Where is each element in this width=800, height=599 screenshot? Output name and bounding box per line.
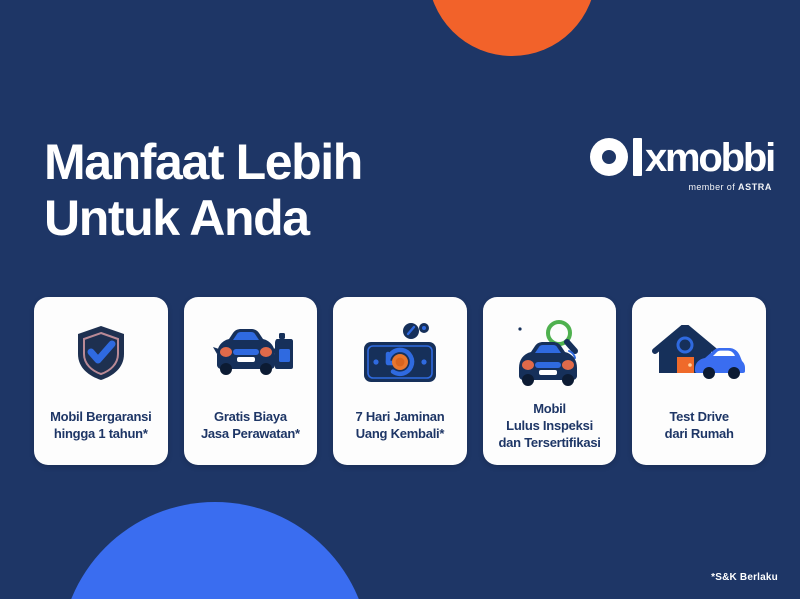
- logo-wordmark-row: xmobbi: [590, 136, 774, 178]
- card-line-2: Uang Kembali*: [356, 425, 445, 442]
- shield-check-icon: [42, 315, 160, 391]
- card-line-1: Mobil Bergaransi: [50, 408, 151, 425]
- benefit-card-list: Mobil Bergaransi hingga 1 tahun*: [34, 297, 766, 465]
- car-oil-bottle-icon: [192, 315, 310, 391]
- card-line-2: Lulus Inspeksi: [506, 417, 593, 434]
- card-line-2: hingga 1 tahun*: [54, 425, 148, 442]
- card-line-1: Gratis Biaya: [214, 408, 287, 425]
- benefit-card-label: Mobil Bergaransi hingga 1 tahun*: [50, 397, 151, 453]
- logo-wordmark: xmobbi: [645, 139, 774, 177]
- blue-circle-decoration: [60, 502, 370, 599]
- card-line-1: 7 Hari Jaminan: [355, 408, 444, 425]
- benefit-card-inspection[interactable]: Mobil Lulus Inspeksi dan Tersertifikasi: [483, 297, 617, 465]
- card-line-2: dari Rumah: [665, 425, 734, 442]
- card-line-1: Test Drive: [669, 408, 728, 425]
- orange-circle-decoration: [428, 0, 596, 56]
- benefit-card-test-drive[interactable]: Test Drive dari Rumah: [632, 297, 766, 465]
- money-back-icon: [341, 315, 459, 391]
- house-car-icon: [640, 315, 758, 391]
- card-line-2: Jasa Perawatan*: [201, 425, 300, 442]
- logo-tagline: member of ASTRA: [590, 182, 772, 192]
- logo-l-bar-icon: [633, 138, 642, 176]
- page-title: Manfaat Lebih Untuk Anda: [44, 134, 362, 246]
- headline-line-1: Manfaat Lebih: [44, 134, 362, 190]
- car-magnifier-icon: [491, 315, 609, 391]
- benefit-card-label: Mobil Lulus Inspeksi dan Tersertifikasi: [498, 397, 600, 453]
- benefit-card-label: Test Drive dari Rumah: [665, 397, 734, 453]
- benefit-card-warranty[interactable]: Mobil Bergaransi hingga 1 tahun*: [34, 297, 168, 465]
- olxmobbi-logo[interactable]: xmobbi member of ASTRA: [590, 136, 774, 192]
- benefit-card-free-service[interactable]: Gratis Biaya Jasa Perawatan*: [184, 297, 318, 465]
- logo-tagline-prefix: member of: [688, 182, 738, 192]
- benefit-card-label: Gratis Biaya Jasa Perawatan*: [201, 397, 300, 453]
- benefit-card-money-back[interactable]: 7 Hari Jaminan Uang Kembali*: [333, 297, 467, 465]
- benefit-card-label: 7 Hari Jaminan Uang Kembali*: [355, 397, 444, 453]
- logo-tagline-brand: ASTRA: [738, 182, 772, 192]
- terms-footnote: *S&K Berlaku: [711, 572, 778, 583]
- promo-poster: Manfaat Lebih Untuk Anda xmobbi member o…: [0, 0, 800, 599]
- card-line-1: Mobil: [533, 400, 566, 417]
- headline-line-2: Untuk Anda: [44, 190, 362, 246]
- card-line-3: dan Tersertifikasi: [498, 434, 600, 451]
- logo-o-ring-icon: [590, 138, 628, 176]
